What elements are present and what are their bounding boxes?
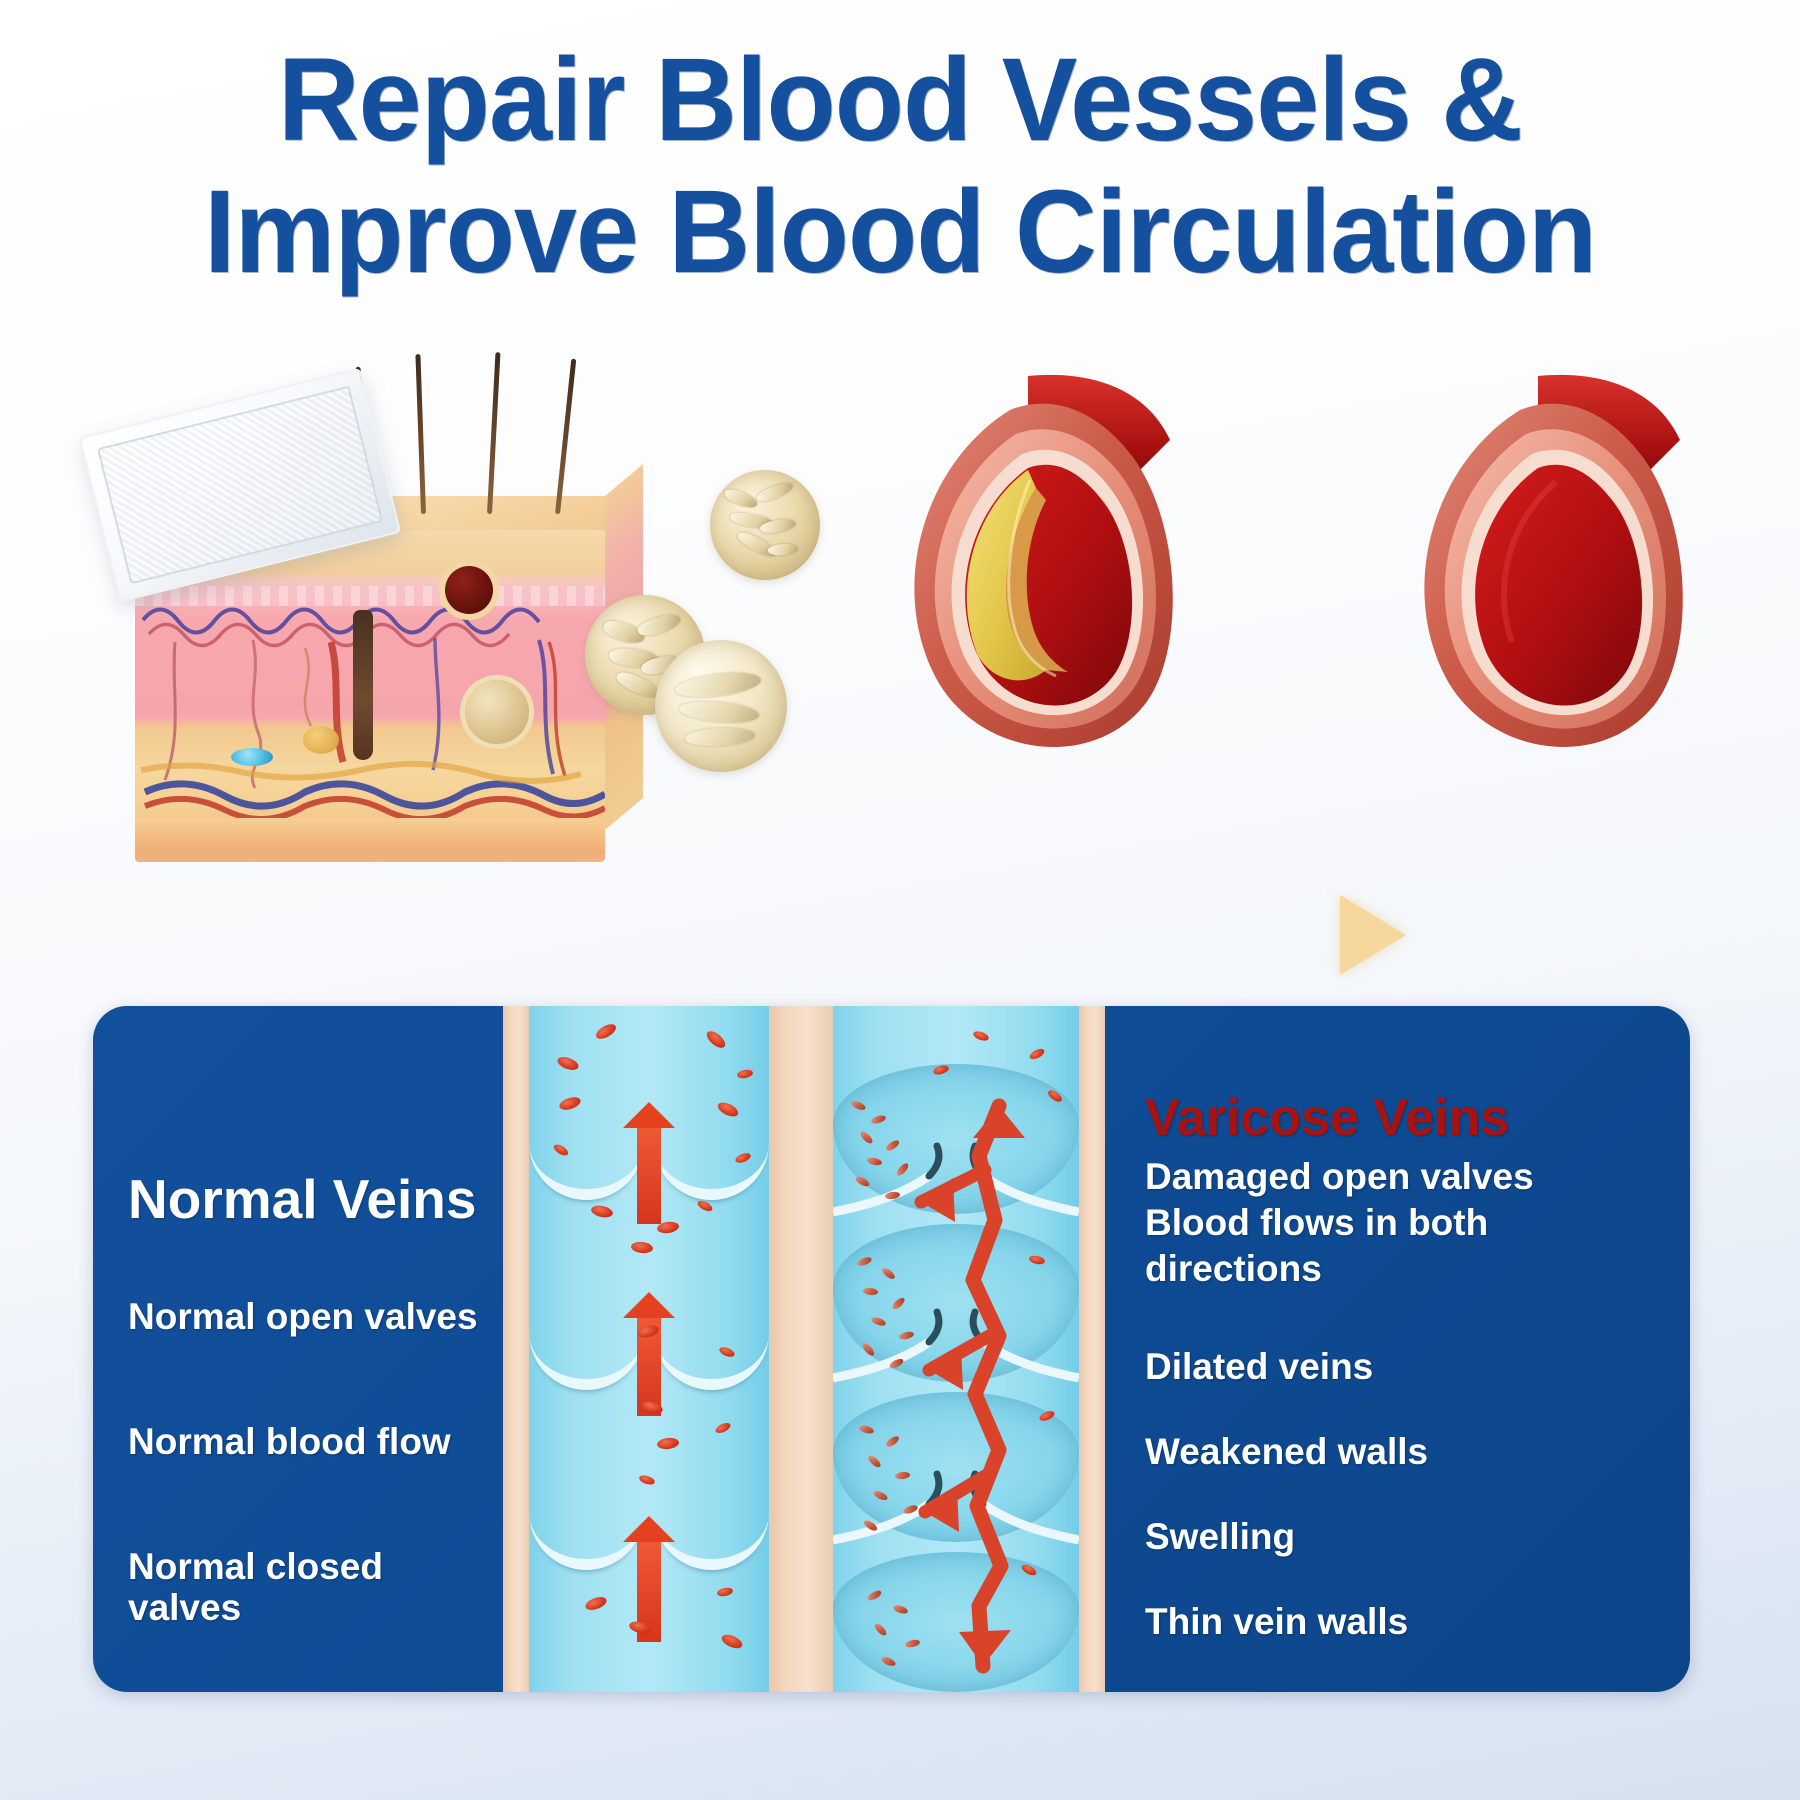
red-blood-cell (656, 1437, 679, 1450)
title-line-1: Repair Blood Vessels & (36, 34, 1764, 166)
varicose-vein-illustration (833, 1006, 1079, 1692)
red-blood-cell (584, 1595, 608, 1613)
red-blood-cell (716, 1586, 733, 1597)
normal-veins-heading: Normal Veins (128, 1171, 476, 1229)
subcutaneous-fat-layer (135, 818, 605, 862)
blood-flow-arrow-up (637, 1124, 661, 1224)
fat-lobule (303, 726, 339, 754)
varicose-bullet-7: Thin vein walls (1145, 1601, 1408, 1642)
improvement-arrow (1340, 895, 1406, 975)
red-blood-cell (638, 1474, 656, 1487)
valve-cusp (654, 1326, 769, 1390)
clear-artery (1370, 370, 1700, 790)
varicose-veins-column: Varicose Veins Damaged open valves Blood… (1105, 1006, 1690, 1692)
normal-vein-illustration (529, 1006, 769, 1692)
herb-slice-circle (655, 640, 787, 772)
varicose-bullet-6: Swelling (1145, 1516, 1295, 1557)
sebaceous-gland-inset (465, 680, 529, 744)
varicose-bullet-2: Blood flows in both (1145, 1202, 1488, 1243)
valve-cusp (529, 1136, 644, 1200)
red-blood-cell (630, 1241, 653, 1254)
red-blood-cell (716, 1100, 741, 1120)
illustration-row (0, 300, 1800, 860)
hair-strand (555, 359, 576, 515)
hair-follicle (353, 610, 373, 760)
skin-lesion-inset (445, 566, 493, 614)
normal-bullet-1: Normal open valves (128, 1296, 478, 1337)
red-blood-cell (590, 1204, 614, 1219)
red-blood-cell (556, 1055, 580, 1073)
leg-skin-strip-left (503, 1006, 529, 1692)
red-blood-cell (594, 1021, 619, 1042)
normal-veins-column: Normal Veins Normal open valves Normal b… (93, 1006, 503, 1692)
varicose-bullet-1: Damaged open valves (1145, 1156, 1534, 1197)
hair-strand (415, 354, 426, 514)
normal-bullet-3: Normal closed valves (128, 1546, 383, 1629)
varicose-veins-heading: Varicose Veins (1145, 1091, 1509, 1146)
valve-cusp (654, 1136, 769, 1200)
herb-seeds-circle (710, 470, 820, 580)
varicose-bullet-4: Dilated veins (1145, 1346, 1373, 1387)
page-title: Repair Blood Vessels & Improve Blood Cir… (0, 34, 1800, 298)
vein-comparison-panel: Normal Veins Normal open valves Normal b… (93, 1006, 1690, 1692)
normal-bullet-2: Normal blood flow (128, 1421, 451, 1462)
red-blood-cell (704, 1028, 728, 1051)
varicose-bullet-5: Weakened walls (1145, 1431, 1428, 1472)
skin-cross-section-figure (95, 400, 635, 850)
varicose-bullet-3: directions (1145, 1248, 1322, 1289)
hair-strand (487, 352, 500, 514)
valve-cusp (529, 1326, 644, 1390)
red-blood-cell (558, 1095, 582, 1112)
red-blood-cell (736, 1069, 753, 1080)
title-line-2: Improve Blood Circulation (36, 166, 1764, 298)
red-blood-cell (720, 1632, 745, 1651)
sweat-gland (231, 748, 273, 766)
leg-skin-strip-right (1079, 1006, 1105, 1692)
vein-artwork-group (503, 1006, 1105, 1692)
leg-skin-strip-middle (769, 1006, 833, 1692)
clogged-artery (860, 370, 1190, 790)
red-blood-cell (714, 1421, 732, 1435)
